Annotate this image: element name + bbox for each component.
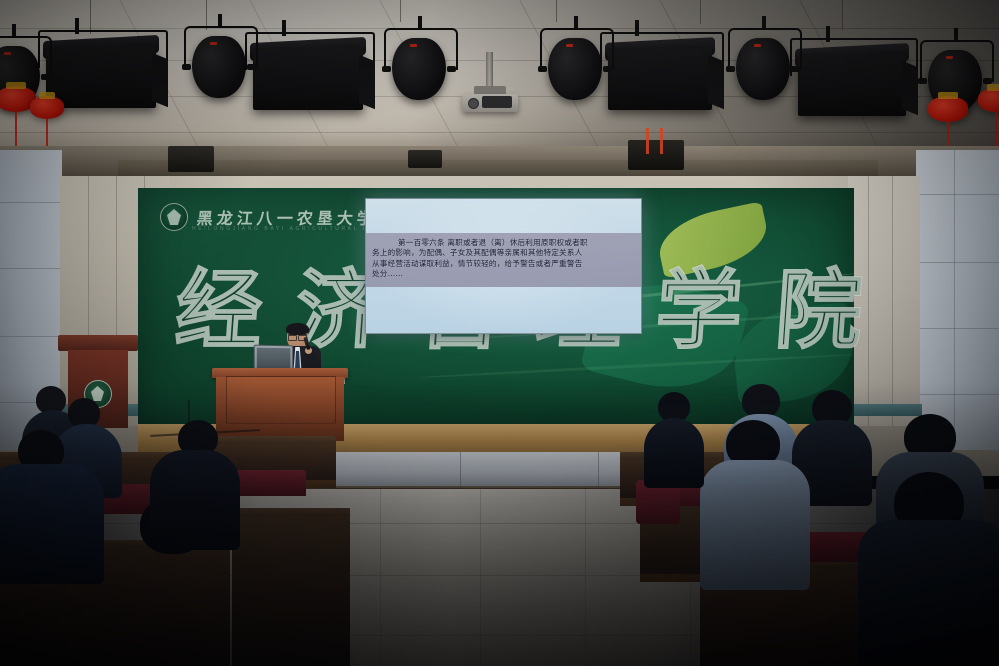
red-paper-lantern [928, 96, 968, 122]
audience-member [644, 392, 704, 478]
wall-speaker [168, 146, 214, 172]
speaker-indicator [646, 128, 649, 154]
university-seal-icon [160, 203, 188, 231]
ceiling-projector [462, 86, 518, 112]
slide-text-block: 第一百零六条 离职或者退（离）休后利用原职权或者职 务上的影响，为配偶、子女及其… [366, 233, 641, 287]
wall-speaker [628, 140, 684, 170]
hanging-wire [400, 0, 401, 22]
stage-fresnel-light [798, 36, 906, 120]
right-pillar [916, 150, 999, 450]
wall-speaker [408, 150, 442, 168]
projector-lens [468, 98, 479, 109]
slide-line-3: 从事经营活动谋取利益，情节较轻的，给予警告或者严重警告 [372, 259, 635, 269]
stage-par-light [730, 24, 796, 104]
stage-fresnel-light [608, 30, 712, 112]
stage-fresnel-light [253, 30, 363, 114]
hanging-wire [700, 0, 701, 24]
hanging-wire [842, 0, 843, 30]
audience-member [858, 472, 999, 666]
audience-member [150, 420, 240, 530]
stage-par-light [542, 24, 608, 104]
projection-screen: 第一百零六条 离职或者退（离）休后利用原职权或者职 务上的影响，为配偶、子女及其… [365, 198, 642, 334]
stage-par-light [186, 22, 252, 102]
slide-line-1: 第一百零六条 离职或者退（离）休后利用原职权或者职 [372, 238, 635, 248]
red-paper-lantern [30, 96, 64, 119]
audience-member [700, 420, 810, 570]
hanging-wire [556, 0, 557, 22]
lecture-hall-photo: 黑龙江八一农垦大学 HEILONGJIANG BAYI AGRICULTURAL… [0, 0, 999, 666]
slide-line-4: 处分…… [372, 269, 635, 279]
speaker-indicator [660, 128, 663, 154]
stage-par-light [386, 24, 452, 104]
slide-line-2: 务上的影响，为配偶、子女及其配偶等亲属和其他特定关系人 [372, 248, 635, 258]
red-paper-lantern [978, 88, 999, 112]
